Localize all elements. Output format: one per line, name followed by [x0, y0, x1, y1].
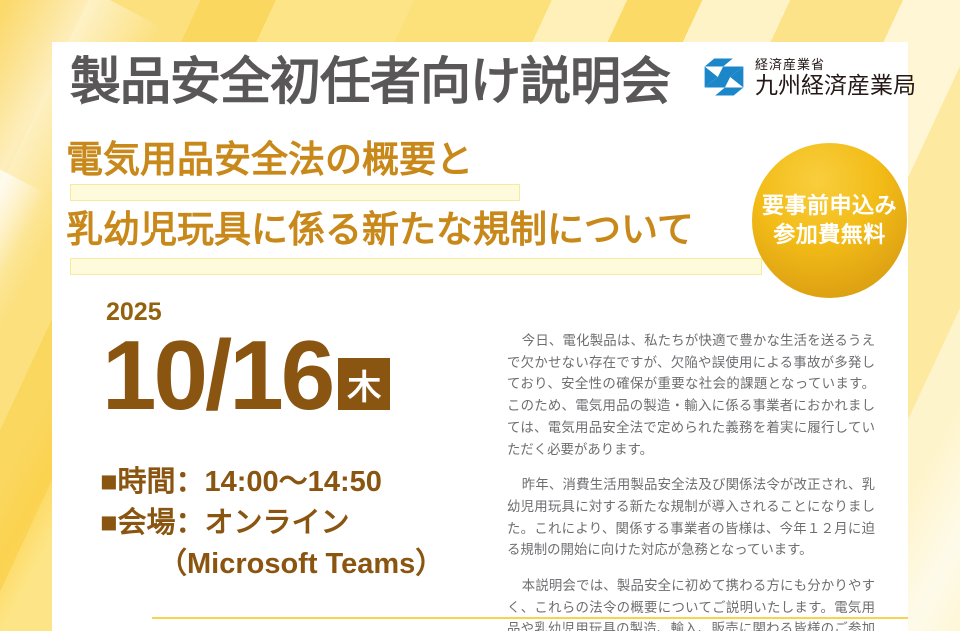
subtitle-highlight-band: [70, 258, 762, 275]
event-venue-line: ■会場：オンライン: [100, 503, 444, 544]
event-info-block: ■時間：14:00〜14:50 ■会場：オンライン （Microsoft Tea…: [100, 462, 444, 586]
description-paragraph-1: 今日、電化製品は、私たちが快適で豊かな生活を送るうえで欠かせない存在ですが、欠陥…: [507, 330, 875, 460]
content-panel: 製品安全初任者向け説明会 経済産業省 九州経済産業局 電気用品安全法の概要と 乳…: [52, 42, 908, 631]
event-date-row: 10/16 木: [102, 329, 390, 422]
event-date-block: 2025 10/16 木: [102, 300, 390, 422]
background-ray-decoration: [0, 152, 46, 631]
subtitle-line-1: 電気用品安全法の概要と: [66, 140, 473, 181]
bottom-divider: [152, 617, 908, 619]
badge-line-1: 要事前申込み: [762, 192, 897, 220]
event-venue-platform: （Microsoft Teams）: [158, 544, 444, 585]
event-month-day: 10/16: [102, 329, 332, 422]
flyer-poster: 製品安全初任者向け説明会 経済産業省 九州経済産業局 電気用品安全法の概要と 乳…: [0, 0, 960, 631]
registration-badge: 要事前申込み 参加費無料: [752, 143, 907, 298]
meti-logo-text: 経済産業省 九州経済産業局: [755, 58, 916, 97]
subtitle-line-2-wrap: 乳幼児玩具に係る新たな規制について: [66, 210, 694, 251]
logo-bureau-name: 九州経済産業局: [755, 74, 916, 97]
subtitle-line-1-wrap: 電気用品安全法の概要と: [66, 140, 473, 181]
meti-logo-mark: [702, 55, 746, 99]
meti-logo: 経済産業省 九州経済産業局: [702, 55, 916, 99]
description-paragraph-3: 本説明会では、製品安全に初めて携わる方にも分かりやすく、これらの法令の概要につい…: [507, 575, 875, 631]
event-time-line: ■時間：14:00〜14:50: [100, 462, 444, 503]
subtitle-highlight-band: [70, 184, 520, 201]
logo-ministry-name: 経済産業省: [755, 58, 916, 71]
page-title: 製品安全初任者向け説明会: [70, 56, 670, 107]
description-text: 今日、電化製品は、私たちが快適で豊かな生活を送るうえで欠かせない存在ですが、欠陥…: [507, 330, 875, 631]
subtitle-line-2: 乳幼児玩具に係る新たな規制について: [66, 210, 694, 251]
badge-line-2: 参加費無料: [773, 221, 886, 249]
event-day-of-week-badge: 木: [338, 358, 390, 410]
description-paragraph-2: 昨年、消費生活用製品安全法及び関係法令が改正され、乳幼児用玩具に対する新たな規制…: [507, 474, 875, 561]
